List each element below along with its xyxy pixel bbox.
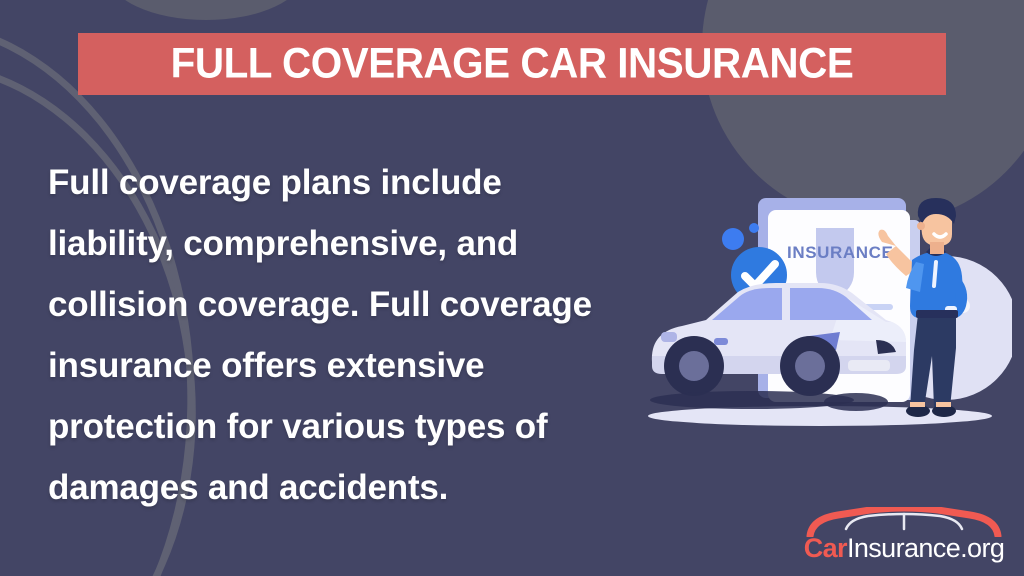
car-wheel-rear-hub (679, 351, 709, 381)
car-handle-front (714, 338, 728, 345)
infographic-canvas: FULL COVERAGE CAR INSURANCE Full coverag… (0, 0, 1024, 576)
car-handle-rear (661, 332, 677, 342)
car-window-front (712, 288, 782, 320)
insurance-heading: INSURANCE (787, 243, 893, 262)
logo-wordmark: CarInsurance.org (798, 533, 1010, 564)
car-insurance-illustration: INSURANCE (630, 180, 1012, 442)
page-title: FULL COVERAGE CAR INSURANCE (104, 40, 920, 89)
blue-dot-large (722, 228, 744, 250)
blue-dot-small (749, 223, 759, 233)
site-logo[interactable]: CarInsurance.org (798, 507, 1010, 565)
person-ankle-left (910, 402, 925, 407)
car-underside-shadow (650, 391, 854, 409)
person-ear (917, 222, 925, 230)
car-wheel-front-hub (795, 351, 825, 381)
person-drawstring (934, 262, 936, 286)
person-neck (930, 242, 944, 254)
title-banner: FULL COVERAGE CAR INSURANCE (78, 33, 946, 95)
logo-brand-suffix: Insurance.org (847, 533, 1004, 563)
car-bumper (848, 360, 890, 371)
person-ankle-right (936, 402, 951, 407)
decor-circle-top-left (108, 0, 304, 20)
body-paragraph: Full coverage plans include liability, c… (48, 152, 628, 518)
car-front-shadow (824, 393, 888, 411)
person-belt (916, 310, 958, 318)
logo-brand-prefix: Car (804, 533, 847, 563)
